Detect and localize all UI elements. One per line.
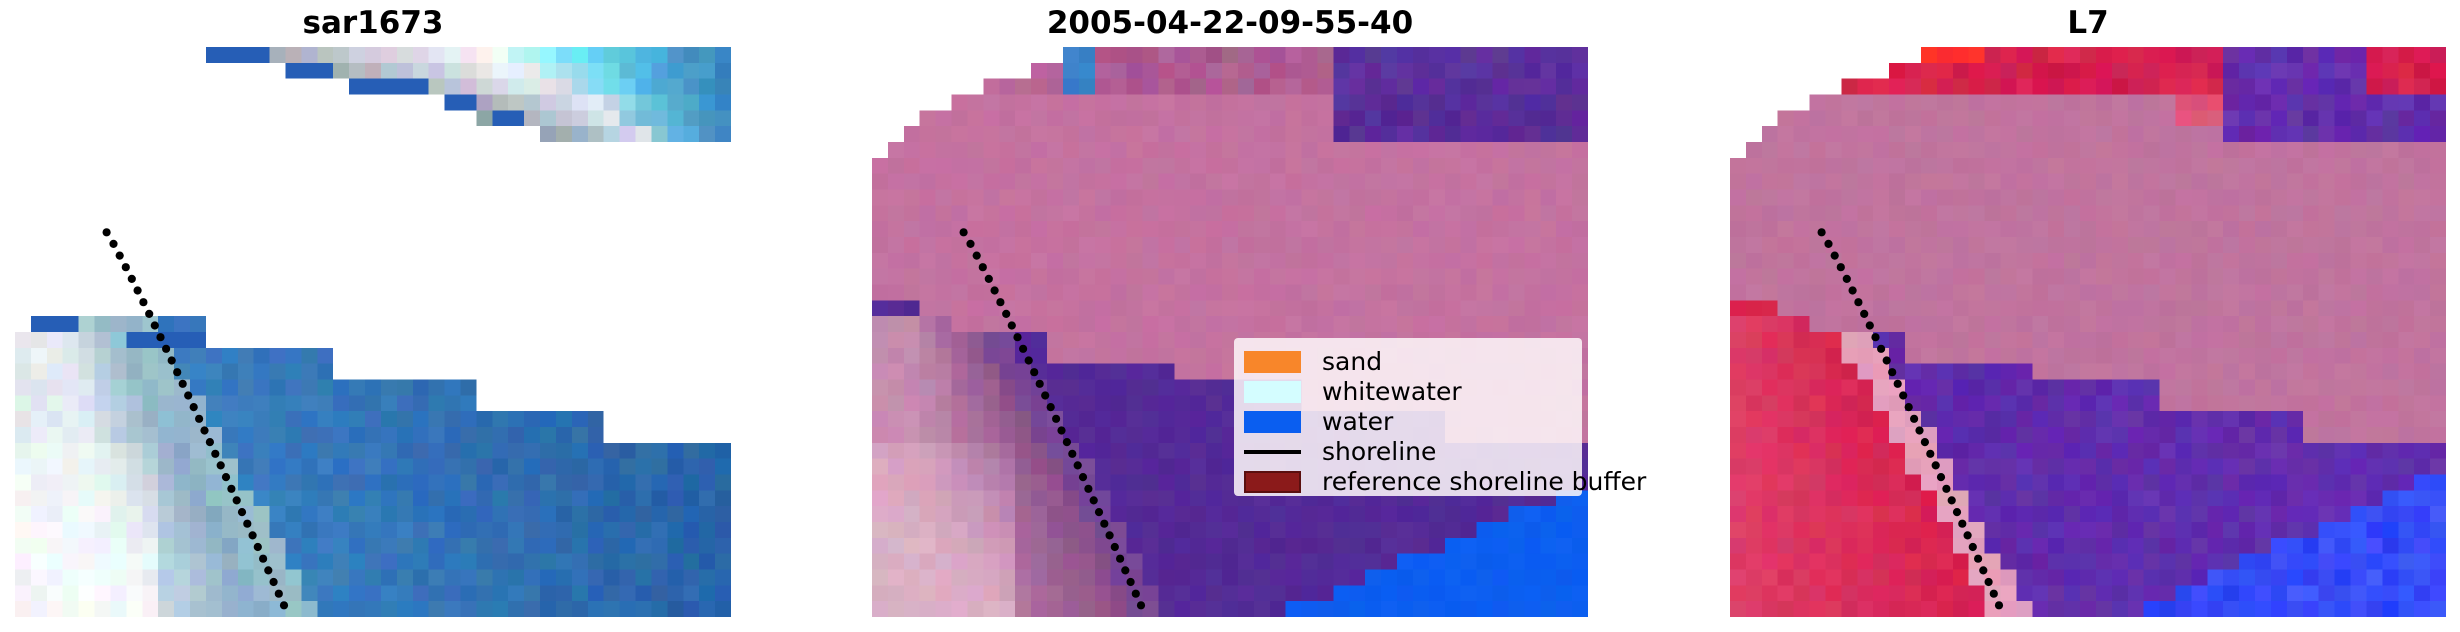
- water-color-swatch: [1244, 411, 1301, 433]
- legend-label-water: water: [1322, 407, 1393, 437]
- legend-item-shoreline[interactable]: shoreline: [1244, 437, 1570, 467]
- shoreline-line-swatch: [1244, 450, 1301, 454]
- raster-image-sar1673[interactable]: [15, 47, 731, 617]
- legend-label-whitewater: whitewater: [1322, 377, 1462, 407]
- figure-canvas: sar1673 2005-04-22-09-55-40 L7 sand whit…: [0, 0, 2460, 632]
- reference-shoreline-buffer-color-swatch: [1244, 471, 1301, 493]
- sand-color-swatch: [1244, 351, 1301, 373]
- raster-image-L7[interactable]: [1730, 47, 2446, 617]
- panel-title-2: 2005-04-22-09-55-40: [857, 4, 1603, 42]
- axes-L7[interactable]: [1730, 47, 2446, 617]
- legend-item-reference-shoreline-buffer[interactable]: reference shoreline buffer: [1244, 467, 1570, 497]
- whitewater-color-swatch: [1244, 381, 1301, 403]
- raster-image-2005-04-22-09-55-40[interactable]: [872, 47, 1588, 617]
- legend-label-reference-shoreline-buffer: reference shoreline buffer: [1322, 467, 1646, 497]
- panel-title-1: sar1673: [0, 4, 746, 42]
- panel-title-3: L7: [1715, 4, 2460, 42]
- panel-L7: L7: [1715, 0, 2460, 632]
- legend-box[interactable]: sand whitewater water shoreline referenc…: [1234, 338, 1582, 496]
- panel-2005-04-22-09-55-40: 2005-04-22-09-55-40: [857, 0, 1603, 632]
- legend-item-whitewater[interactable]: whitewater: [1244, 377, 1570, 407]
- axes-sar1673[interactable]: [15, 47, 731, 617]
- legend-label-sand: sand: [1322, 347, 1382, 377]
- legend-item-sand[interactable]: sand: [1244, 347, 1570, 377]
- legend-item-water[interactable]: water: [1244, 407, 1570, 437]
- axes-2005-04-22-09-55-40[interactable]: [872, 47, 1588, 617]
- legend-label-shoreline: shoreline: [1322, 437, 1436, 467]
- panel-sar1673: sar1673: [0, 0, 746, 632]
